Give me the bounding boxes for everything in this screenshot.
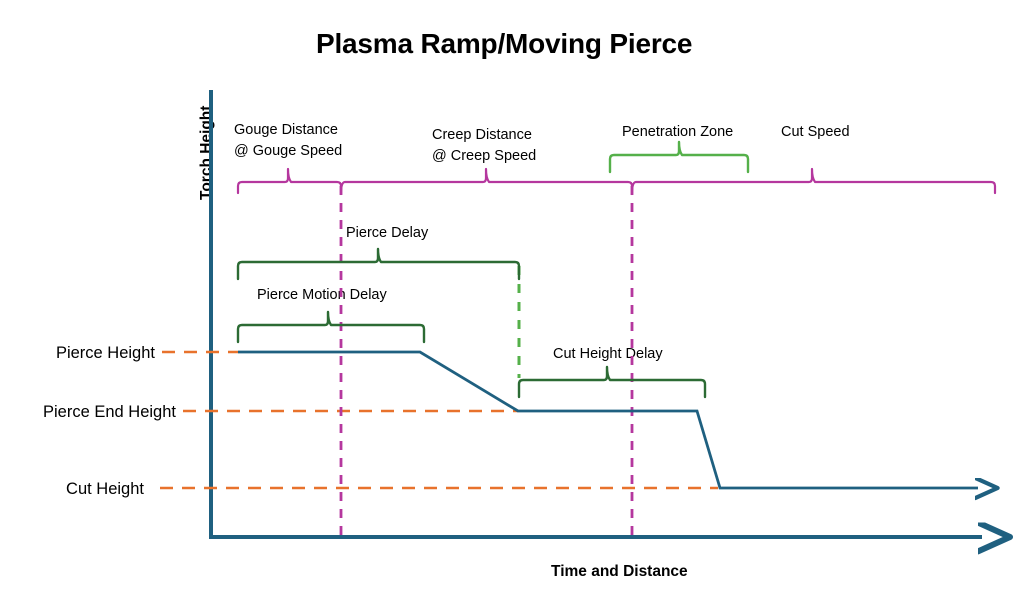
plasma-ramp-diagram: Plasma Ramp/Moving Pierce Torch Height T… — [0, 0, 1032, 596]
diagram-vector-layer — [0, 0, 1032, 596]
speed-bracket-group — [238, 169, 995, 194]
pierce-delay-bracket-path — [238, 249, 519, 279]
pierce-delay-bracket-group — [238, 249, 519, 279]
level-reference-lines — [160, 352, 718, 488]
cut-height-delay-bracket-group — [519, 367, 705, 397]
event-marker-lines — [341, 186, 632, 537]
pierce-motion-delay-bracket-group — [238, 312, 424, 342]
penetration-zone-bracket-group — [610, 142, 748, 172]
axes-group — [209, 90, 982, 537]
cut-height-delay-bracket-path — [519, 367, 705, 397]
pierce-motion-delay-bracket-path — [238, 312, 424, 342]
penetration-zone-bracket-path — [610, 142, 748, 172]
speed-bracket-path — [238, 169, 995, 194]
